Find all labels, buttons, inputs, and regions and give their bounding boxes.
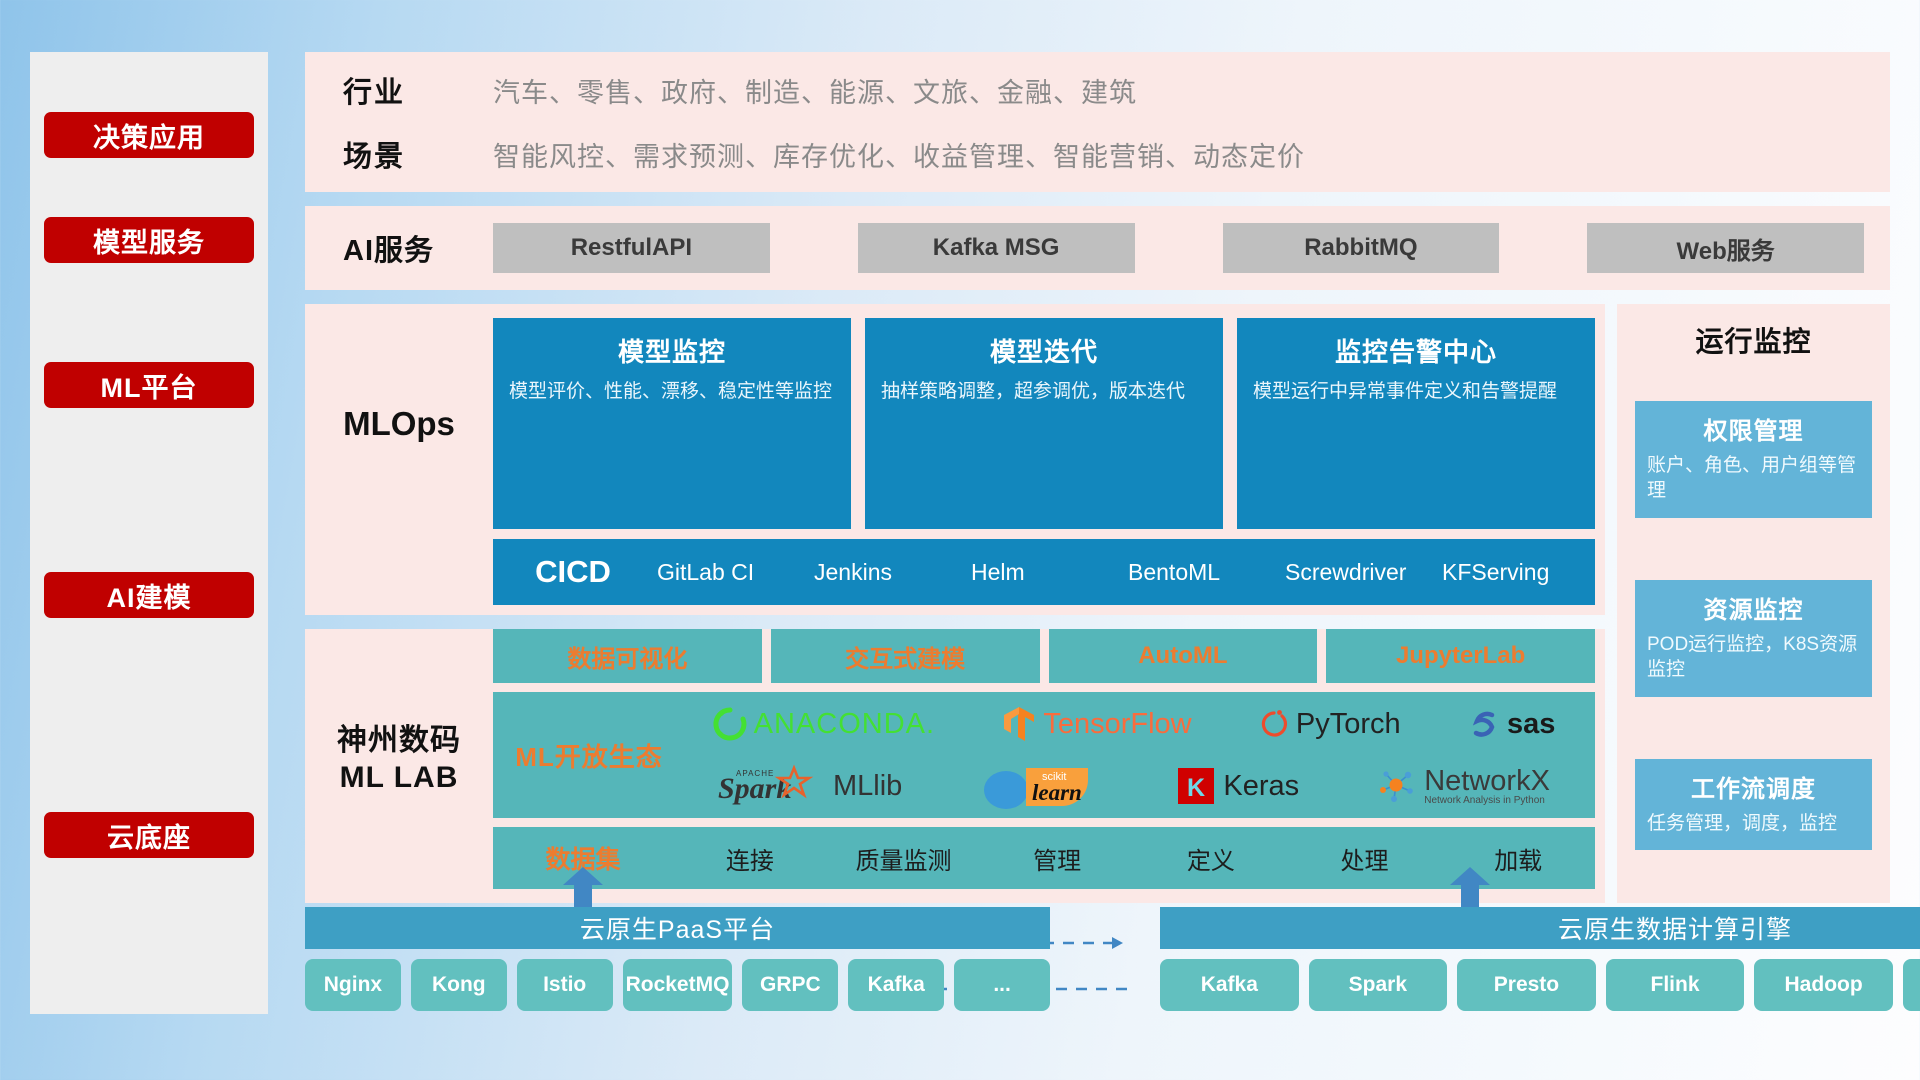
dataset-item-processing[interactable]: 处理 [1288,841,1442,876]
svg-text:K: K [1187,774,1205,802]
paas-chip-kafka[interactable]: Kafka [848,959,944,1011]
monitor-card-resource-monitoring[interactable]: 资源监控 POD运行监控，K8S资源监控 [1635,580,1872,697]
tool-chip-interactive-modeling[interactable]: 交互式建模 [771,629,1040,683]
industry-key: 行业 [343,69,493,111]
card-desc: 模型评价、性能、漂移、稳定性等监控 [509,379,835,405]
networkx-logo: NetworkX Network Analysis in Python [1377,766,1550,806]
compute-chip-hadoop[interactable]: Hadoop [1754,959,1893,1011]
cicd-item-bentoml[interactable]: BentoML [1124,560,1281,584]
diagram-main: 行业 汽车、零售、政府、制造、能源、文旅、金融、建筑 场景 智能风控、需求预测、… [305,52,1890,903]
compute-chip-kafka[interactable]: Kafka [1160,959,1299,1011]
cicd-label: CICD [493,554,653,590]
anaconda-icon [713,707,747,741]
ai-service-chip-kafka-msg[interactable]: Kafka MSG [858,223,1135,273]
dataset-item-quality-monitoring[interactable]: 质量监测 [827,841,981,876]
networkx-wordmark: NetworkX [1424,767,1550,796]
ai-service-chip-web-service[interactable]: Web服务 [1587,223,1864,273]
sas-icon [1468,708,1500,740]
mlops-band: MLOps 模型监控 模型评价、性能、漂移、稳定性等监控 模型迭代 抽样策略调整… [305,304,1605,615]
monitor-card-workflow-scheduling[interactable]: 工作流调度 任务管理，调度，监控 [1635,759,1872,851]
card-title: 监控告警中心 [1253,332,1579,369]
cicd-row[interactable]: CICD GitLab CI Jenkins Helm BentoML Scre… [493,539,1595,605]
rail-chip-ai-modeling[interactable]: AI建模 [44,572,254,618]
paas-chip-grpc[interactable]: GRPC [742,959,838,1011]
mlops-card-model-iteration[interactable]: 模型迭代 抽样策略调整，超参调优，版本迭代 [865,318,1223,529]
card-title: 模型迭代 [881,332,1207,369]
rail-chip-decision-apps[interactable]: 决策应用 [44,112,254,158]
rail-chip-cloud-base[interactable]: 云底座 [44,812,254,858]
card-desc: 模型运行中异常事件定义和告警提醒 [1253,379,1579,405]
scenario-row: 场景 智能风控、需求预测、库存优化、收益管理、智能营销、动态定价 [343,133,1305,175]
mllib-wordmark: MLlib [833,770,902,803]
scenario-value: 智能风控、需求预测、库存优化、收益管理、智能营销、动态定价 [493,135,1305,174]
compute-engine-group: 云原生数据计算引擎 Kafka Spark Presto Flink Hadoo… [1160,907,1920,1011]
paas-chip-nginx[interactable]: Nginx [305,959,401,1011]
keras-wordmark: Keras [1223,770,1299,803]
ai-service-label: AI服务 [343,227,493,269]
rail-label: AI建模 [107,576,192,615]
card-title: 模型监控 [509,332,835,369]
decision-apps-band: 行业 汽车、零售、政府、制造、能源、文旅、金融、建筑 场景 智能风控、需求预测、… [305,52,1890,192]
platform-zone: MLOps 模型监控 模型评价、性能、漂移、稳定性等监控 模型迭代 抽样策略调整… [305,304,1890,903]
runtime-monitor-panel: 运行监控 权限管理 账户、角色、用户组等管理 资源监控 POD运行监控，K8S资… [1617,304,1890,903]
card-title: 资源监控 [1647,590,1860,625]
compute-chip-spark[interactable]: Spark [1309,959,1448,1011]
paas-chip-rocketmq[interactable]: RocketMQ [623,959,733,1011]
rail-label: 云底座 [107,816,191,855]
industry-value: 汽车、零售、政府、制造、能源、文旅、金融、建筑 [493,71,1137,110]
sas-wordmark: sas [1507,708,1555,741]
ai-modeling-band: 神州数码 ML LAB 数据可视化 交互式建模 AutoML JupyterLa… [305,629,1605,903]
paas-group: 云原生PaaS平台 Nginx Kong Istio RocketMQ GRPC… [305,907,1050,1011]
networkx-icon [1377,766,1417,806]
spark-icon: Spark APACHE [718,764,826,808]
spark-mllib-logo: Spark APACHE MLlib [718,764,902,808]
up-arrow-compute-icon [1447,867,1493,907]
tensorflow-icon [1002,705,1036,743]
dataset-item-definition[interactable]: 定义 [1134,841,1288,876]
tensorflow-wordmark: TensorFlow [1043,708,1191,741]
ml-ecosystem-panel: ML开放生态 ANACONDA. [493,692,1595,818]
card-desc: 任务管理，调度，监控 [1647,811,1860,837]
keras-icon: K [1176,766,1216,806]
cicd-item-jenkins[interactable]: Jenkins [810,560,967,584]
rail-label: 模型服务 [93,221,205,260]
dataset-item-management[interactable]: 管理 [980,841,1134,876]
paas-chip-istio[interactable]: Istio [517,959,613,1011]
cicd-item-kfserving[interactable]: KFServing [1438,560,1595,584]
card-title: 工作流调度 [1647,769,1860,804]
mlops-card-alert-center[interactable]: 监控告警中心 模型运行中异常事件定义和告警提醒 [1237,318,1595,529]
layer-rail: 决策应用 模型服务 ML平台 AI建模 云底座 [30,52,268,1014]
dataset-row[interactable]: 数据集 连接 质量监测 管理 定义 处理 加载 [493,827,1595,889]
tool-chip-data-visualization[interactable]: 数据可视化 [493,629,762,683]
up-arrow-paas-icon [560,867,606,907]
keras-logo: K Keras [1176,766,1299,806]
compute-chip-presto[interactable]: Presto [1457,959,1596,1011]
svg-text:learn: learn [1032,780,1082,805]
card-desc: POD运行监控，K8S资源监控 [1647,632,1860,683]
ml-lab-label: 神州数码 ML LAB [305,629,493,889]
rail-chip-model-service[interactable]: 模型服务 [44,217,254,263]
card-title: 权限管理 [1647,411,1860,446]
pytorch-logo: PyTorch [1259,707,1401,741]
mlops-card-model-monitoring[interactable]: 模型监控 模型评价、性能、漂移、稳定性等监控 [493,318,851,529]
rail-label: 决策应用 [93,116,205,155]
platform-column: MLOps 模型监控 模型评价、性能、漂移、稳定性等监控 模型迭代 抽样策略调整… [305,304,1605,903]
sas-logo: sas [1468,708,1555,741]
ai-service-chip-rabbitmq[interactable]: RabbitMQ [1223,223,1500,273]
svg-text:APACHE: APACHE [736,769,774,778]
ai-service-band: AI服务 RestfulAPI Kafka MSG RabbitMQ Web服务 [305,206,1890,290]
card-desc: 账户、角色、用户组等管理 [1647,453,1860,504]
anaconda-wordmark: ANACONDA. [754,708,935,741]
tensorflow-logo: TensorFlow [1002,705,1191,743]
paas-chip-kong[interactable]: Kong [411,959,507,1011]
anaconda-logo: ANACONDA. [713,707,935,741]
pytorch-icon [1259,707,1289,741]
card-desc: 抽样策略调整，超参调优，版本迭代 [881,379,1207,405]
rail-chip-ml-platform[interactable]: ML平台 [44,362,254,408]
ai-service-chip-restfulapi[interactable]: RestfulAPI [493,223,770,273]
scikit-learn-logo: scikit learn [980,762,1098,810]
scikit-learn-icon: scikit learn [980,762,1098,810]
paas-title-bar: 云原生PaaS平台 [305,907,1050,949]
monitor-card-permission-management[interactable]: 权限管理 账户、角色、用户组等管理 [1635,401,1872,518]
tool-chip-jupyterlab[interactable]: JupyterLab [1326,629,1595,683]
paas-chip-more[interactable]: ... [954,959,1050,1011]
cicd-item-gitlab-ci[interactable]: GitLab CI [653,560,810,584]
rail-label: ML平台 [101,366,198,405]
runtime-monitor-title: 运行监控 [1635,320,1872,360]
compute-title-bar: 云原生数据计算引擎 [1160,907,1920,949]
dataset-item-connect[interactable]: 连接 [673,841,827,876]
pytorch-wordmark: PyTorch [1296,708,1401,741]
scenario-key: 场景 [343,133,493,175]
compute-chip-flink[interactable]: Flink [1606,959,1745,1011]
ml-lab-label-line1: 神州数码 [337,722,461,760]
industry-row: 行业 汽车、零售、政府、制造、能源、文旅、金融、建筑 [343,69,1305,111]
tool-chip-automl[interactable]: AutoML [1049,629,1318,683]
ml-ecosystem-label: ML开放生态 [499,737,679,774]
cloud-base-zone: 云原生PaaS平台 Nginx Kong Istio RocketMQ GRPC… [305,885,1920,1035]
cicd-item-screwdriver[interactable]: Screwdriver [1281,560,1438,584]
cicd-item-helm[interactable]: Helm [967,560,1124,584]
mlops-label: MLOps [305,318,493,529]
compute-chip-storm[interactable]: Storm [1903,959,1920,1011]
networkx-tagline: Network Analysis in Python [1424,796,1550,806]
ml-lab-label-line2: ML LAB [340,759,459,797]
